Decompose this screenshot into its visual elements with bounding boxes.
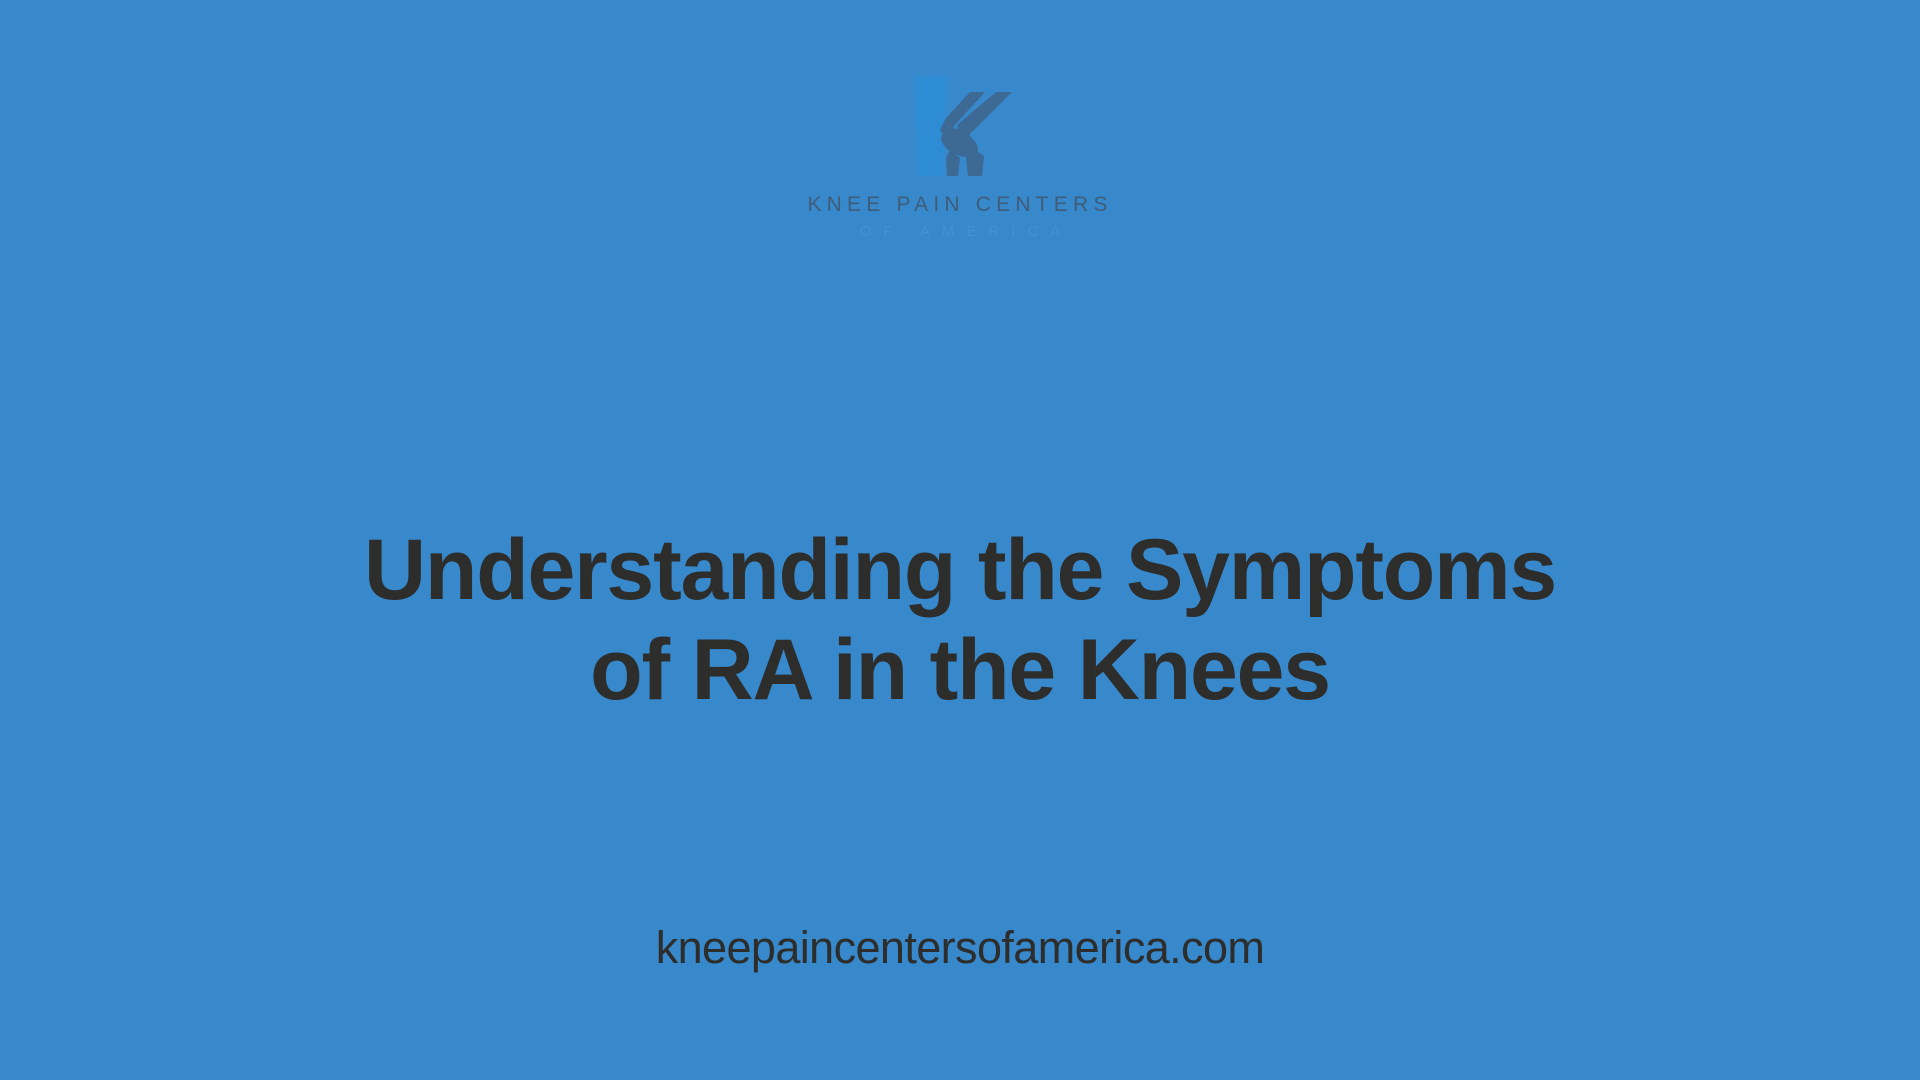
logo-wordmark: KNEE PAIN CENTERS	[807, 194, 1112, 215]
page-title: Understanding the Symptoms of RA in the …	[160, 520, 1760, 720]
slide-canvas: KNEE PAIN CENTERS OF AMERICA Understandi…	[0, 0, 1920, 1080]
page-title-line-2: of RA in the Knees	[160, 620, 1760, 720]
knee-joint-k-monogram-icon	[900, 70, 1020, 182]
page-title-line-1: Understanding the Symptoms	[160, 520, 1760, 620]
brand-logo: KNEE PAIN CENTERS OF AMERICA	[0, 70, 1920, 239]
logo-tagline: OF AMERICA	[848, 224, 1073, 239]
website-url: kneepaincentersofamerica.com	[160, 922, 1760, 974]
